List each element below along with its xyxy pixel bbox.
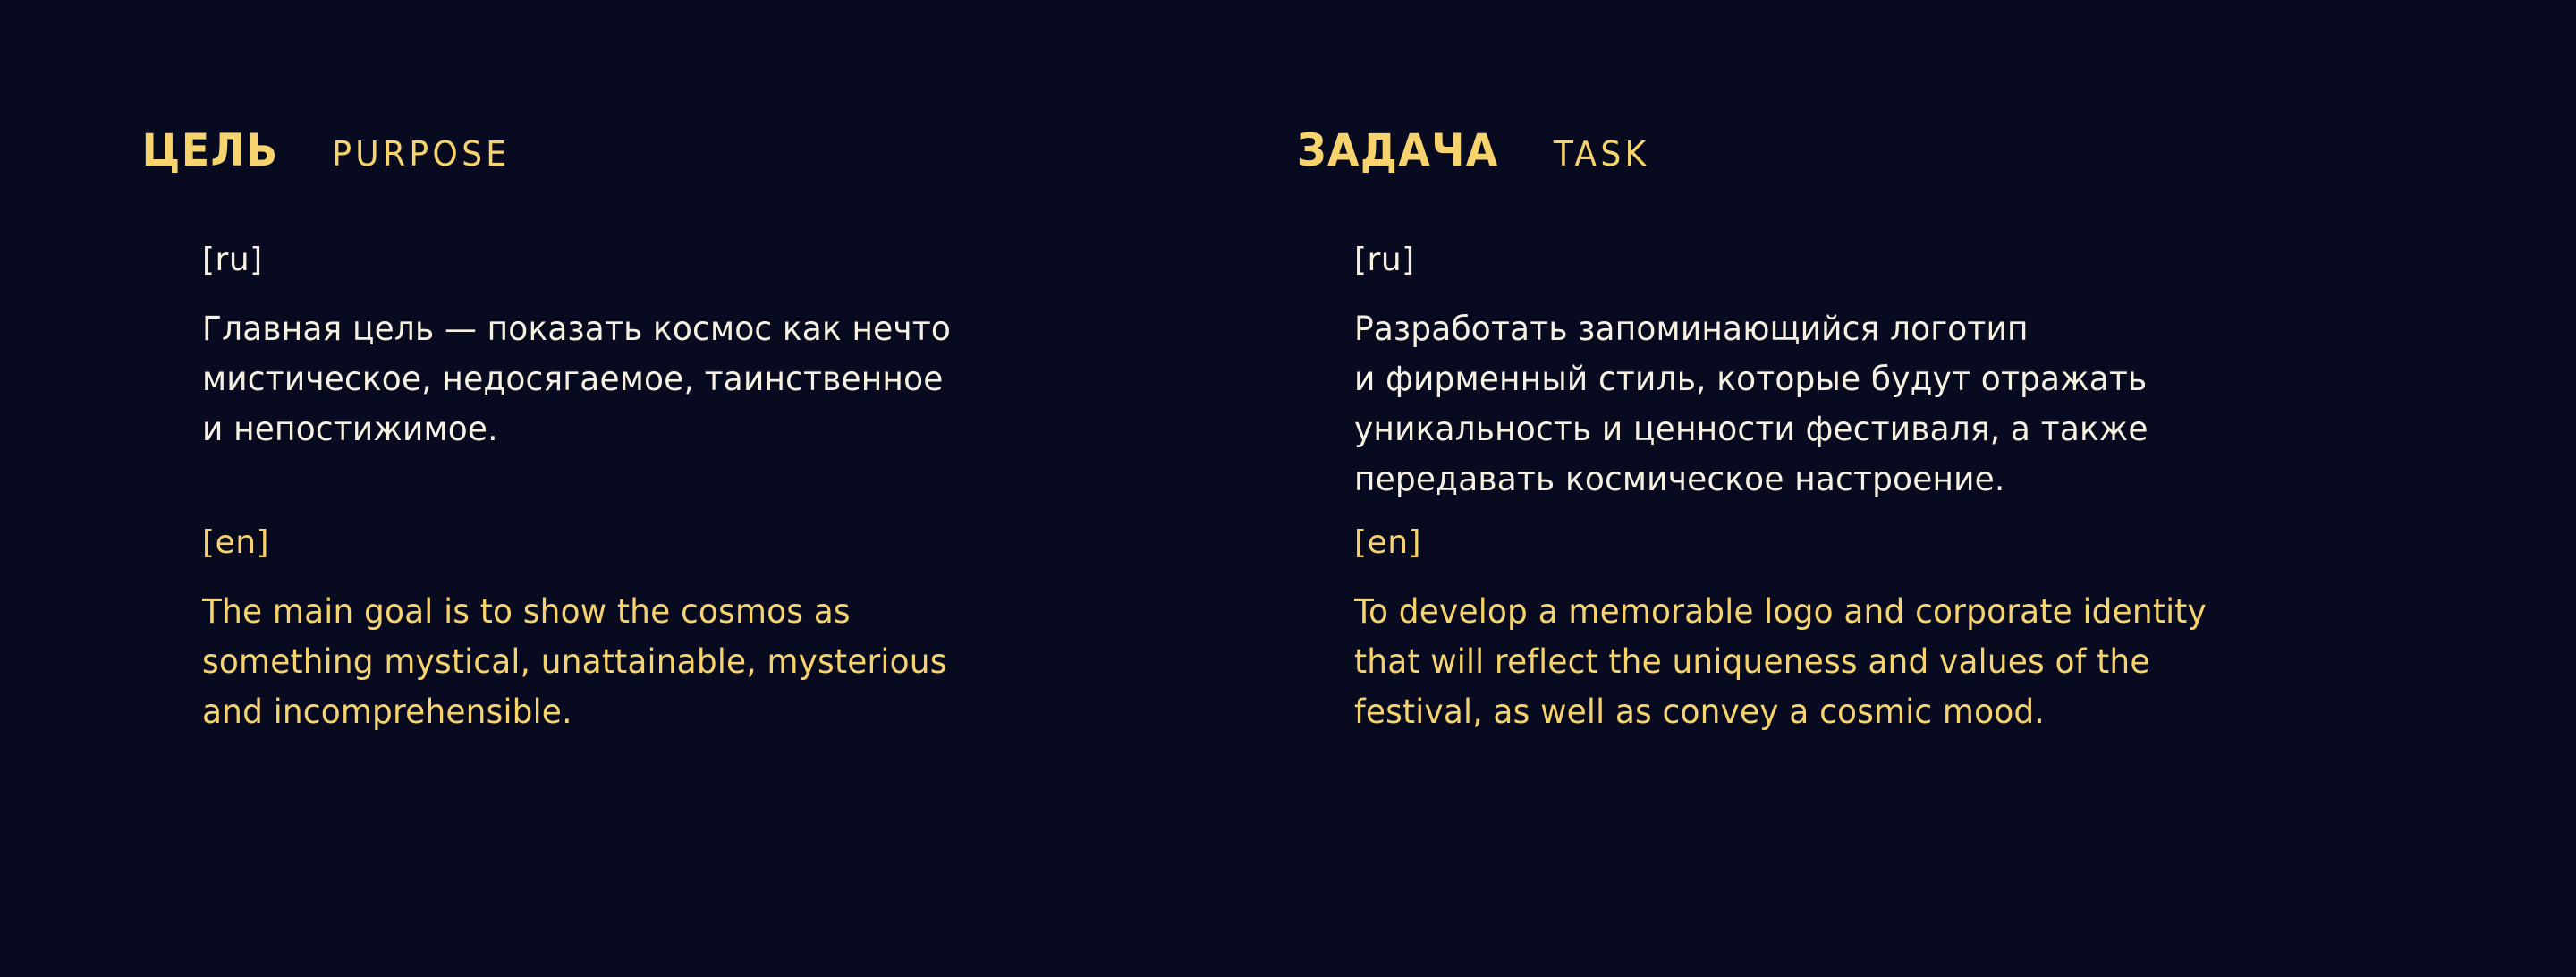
paragraph-en-purpose: The main goal is to show the cosmos as s…: [202, 587, 1256, 737]
paragraph-en-task: To develop a memorable logo and corporat…: [1354, 587, 2539, 737]
heading-title-task: ЗАДАЧА: [1297, 125, 1499, 175]
column-task: ЗАДАЧА TASK [ru] Разработать запоминающи…: [1288, 0, 2576, 737]
heading-subtitle-purpose: PURPOSE: [332, 129, 510, 179]
presentation-slide: ЦЕЛЬ PURPOSE [ru] Главная цель — показат…: [0, 0, 2576, 977]
spacer-label-to-paragraph: [202, 562, 1288, 587]
spacer-label-to-paragraph: [202, 279, 1288, 304]
spacer-paragraph-to-en: [1354, 505, 2576, 524]
lang-label-ru-purpose: [ru]: [202, 242, 1288, 279]
lang-label-en-task: [en]: [1354, 524, 2576, 562]
paragraph-ru-purpose: Главная цель — показать космос как нечто…: [202, 304, 1256, 455]
spacer-label-to-paragraph: [1354, 279, 2576, 304]
two-column-layout: ЦЕЛЬ PURPOSE [ru] Главная цель — показат…: [0, 0, 2576, 977]
lang-label-ru-task: [ru]: [1354, 242, 2576, 279]
spacer-heading-to-body: [136, 181, 1288, 242]
lang-label-en-purpose: [en]: [202, 524, 1288, 562]
spacer-heading-to-body: [1288, 181, 2576, 242]
body-block-task: [ru] Разработать запоминающийся логотип …: [1288, 242, 2576, 737]
heading-purpose: ЦЕЛЬ PURPOSE: [136, 125, 1288, 181]
heading-title-purpose: ЦЕЛЬ: [142, 125, 279, 175]
paragraph-ru-task: Разработать запоминающийся логотип и фир…: [1354, 304, 2539, 505]
body-block-purpose: [ru] Главная цель — показать космос как …: [136, 242, 1288, 737]
column-purpose: ЦЕЛЬ PURPOSE [ru] Главная цель — показат…: [0, 0, 1288, 737]
spacer-paragraph-to-en: [202, 455, 1288, 524]
spacer-label-to-paragraph: [1354, 562, 2576, 587]
heading-subtitle-task: TASK: [1553, 129, 1649, 179]
heading-task: ЗАДАЧА TASK: [1288, 125, 2576, 181]
